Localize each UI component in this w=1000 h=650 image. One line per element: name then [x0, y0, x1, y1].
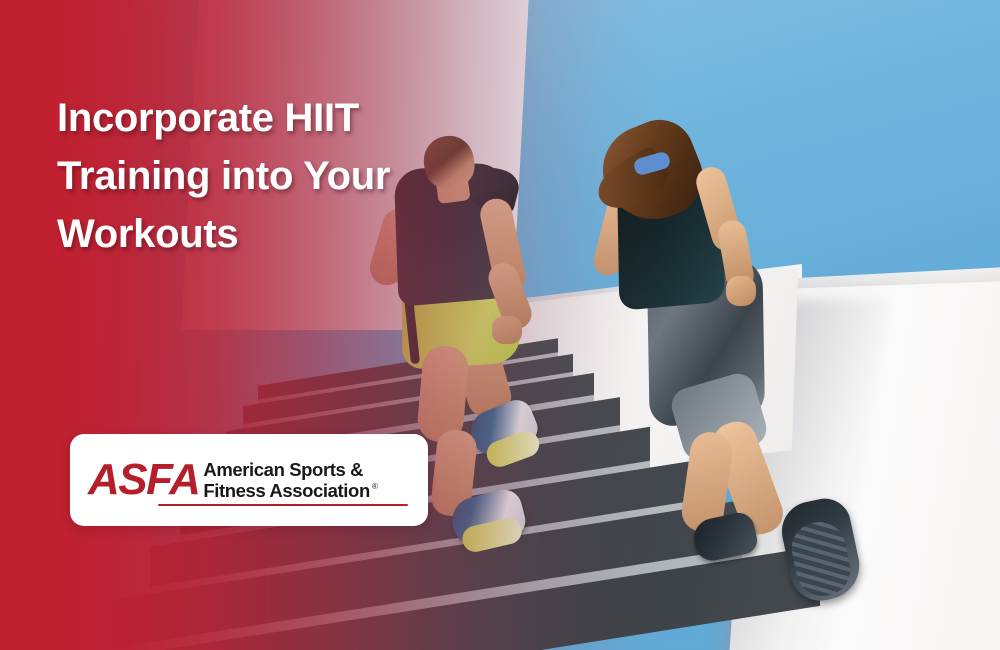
logo-name-line-2-wrap: Fitness Association ® [203, 480, 410, 501]
asfa-logo[interactable]: ASFA American Sports & Fitness Associati… [70, 434, 428, 526]
logo-inner: ASFA American Sports & Fitness Associati… [88, 458, 410, 502]
registered-trademark-icon: ® [372, 482, 378, 492]
promo-banner: Incorporate HIIT Training into Your Work… [0, 0, 1000, 650]
logo-name-line-2: Fitness Association [203, 480, 369, 501]
page-title: Incorporate HIIT Training into Your Work… [57, 89, 577, 263]
logo-underline-rule [158, 504, 408, 507]
logo-full-name: American Sports & Fitness Association ® [203, 459, 410, 501]
logo-name-line-1: American Sports & [203, 459, 410, 480]
asfa-wordmark: ASFA [88, 458, 199, 502]
